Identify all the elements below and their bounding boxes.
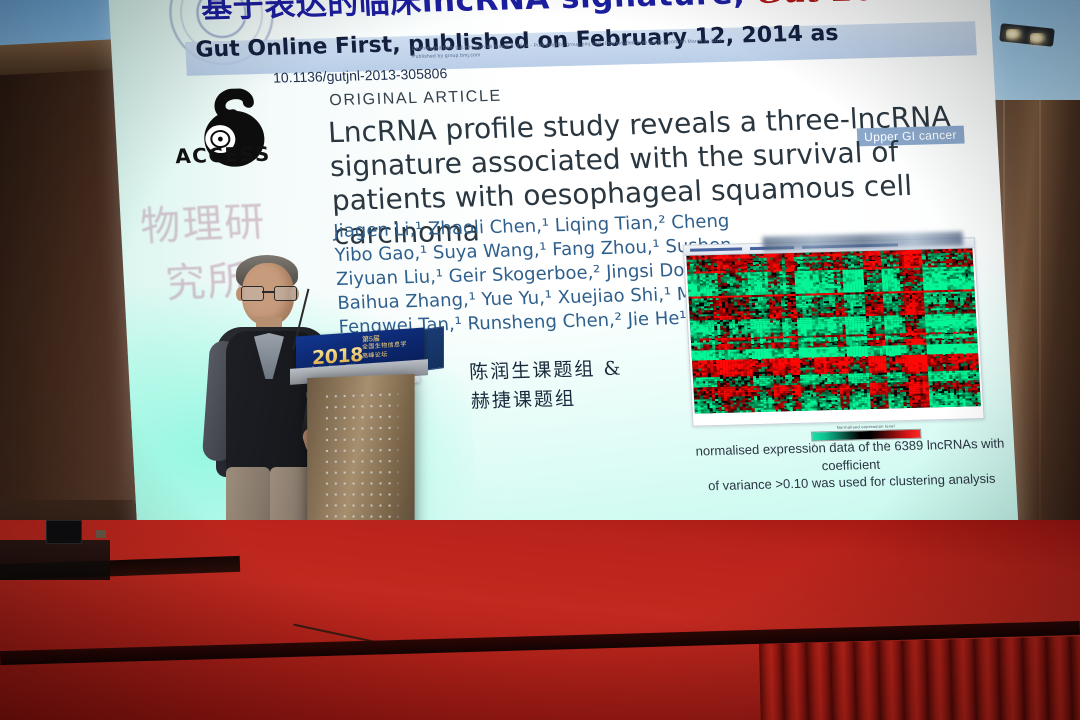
research-group-line: 赫捷课题组 xyxy=(470,383,625,415)
heatmap-figure xyxy=(683,237,985,426)
heatmap-cell xyxy=(707,310,711,313)
ceiling-spotlight xyxy=(1030,33,1046,45)
slide-headline: 基于表达的临床lncRNA signature, Gut 2014 xyxy=(200,0,962,27)
research-group-line: 陈润生课题组 & xyxy=(469,355,624,387)
research-groups: 陈润生课题组 & 赫捷课题组 xyxy=(469,355,625,416)
open-access-label: ACCESS xyxy=(175,142,272,168)
headline-journal: Gut 2014 xyxy=(755,0,921,11)
section-label: ORIGINAL ARTICLE xyxy=(329,88,502,110)
doi-text: 10.1136/gutjnl-2013-305806 xyxy=(273,65,448,86)
heatmap-canvas xyxy=(686,248,981,413)
heatmap-cell xyxy=(972,295,976,298)
heatmap-cell xyxy=(805,362,809,365)
conference-photo: 物理研究所 基于表达的临床lncRNA signature, Gut 2014 … xyxy=(0,0,1080,720)
headline-chinese: 基于表达的临床lncRNA signature, xyxy=(200,0,757,26)
heatmap-cell xyxy=(724,283,728,286)
heatmap-cell xyxy=(970,260,974,263)
heatmap-cell xyxy=(891,340,895,343)
ceiling-spotlight xyxy=(1006,29,1022,41)
